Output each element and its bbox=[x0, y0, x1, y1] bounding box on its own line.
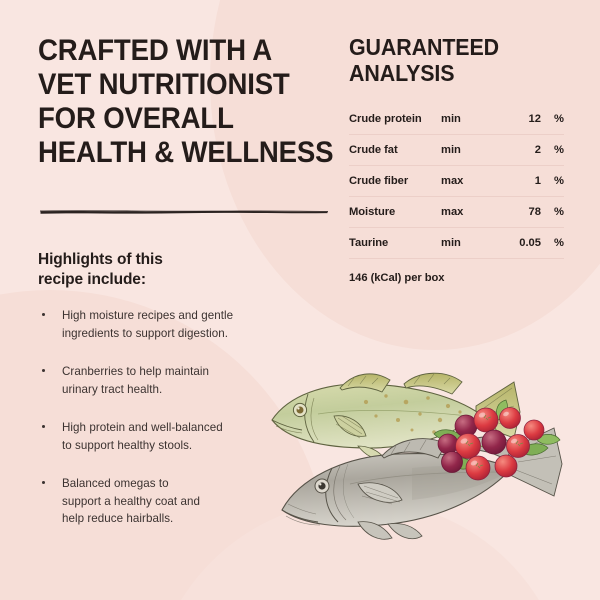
headline-line-4: HEALTH & WELLNESS bbox=[38, 136, 314, 170]
nutrient-qualifier: min bbox=[433, 228, 497, 259]
nutrient-unit: % bbox=[541, 228, 564, 259]
bullet-line: ingredients to support digestion. bbox=[62, 325, 310, 343]
table-row: Crude protein min 12 % bbox=[349, 104, 564, 135]
nutrient-unit: % bbox=[541, 104, 564, 135]
guaranteed-analysis-section: GUARANTEED ANALYSIS Crude protein min 12… bbox=[349, 34, 564, 284]
bullet-line: to support healthy stools. bbox=[62, 437, 310, 455]
bullet-text: Balanced omegas to support a healthy coa… bbox=[62, 475, 310, 528]
table-row: Moisture max 78 % bbox=[349, 197, 564, 228]
ga-title-line-1: GUARANTEED bbox=[349, 34, 549, 60]
nutrient-value: 0.05 bbox=[497, 228, 541, 259]
table-row: Crude fat min 2 % bbox=[349, 135, 564, 166]
nutrient-value: 78 bbox=[497, 197, 541, 228]
bullet-line: urinary tract health. bbox=[62, 381, 310, 399]
headline-line-1: CRAFTED WITH A bbox=[38, 34, 314, 68]
headline-line-2: VET NUTRITIONIST bbox=[38, 68, 314, 102]
bullet-line: High moisture recipes and gentle bbox=[62, 307, 310, 325]
cranberry-cluster bbox=[434, 400, 560, 480]
pet-food-label-panel: CRAFTED WITH A VET NUTRITIONIST FOR OVER… bbox=[0, 0, 600, 600]
guaranteed-analysis-title: GUARANTEED ANALYSIS bbox=[349, 34, 549, 86]
nutrient-value: 12 bbox=[497, 104, 541, 135]
nutrient-name: Crude fiber bbox=[349, 166, 433, 197]
bullet-dot-icon bbox=[42, 313, 45, 316]
nutrient-qualifier: min bbox=[433, 104, 497, 135]
table-row: Taurine min 0.05 % bbox=[349, 228, 564, 259]
highlights-title-line-1: Highlights of this bbox=[38, 250, 163, 270]
bullet-text: High protein and well-balanced to suppor… bbox=[62, 419, 310, 454]
nutrient-unit: % bbox=[541, 197, 564, 228]
ga-title-line-2: ANALYSIS bbox=[349, 60, 549, 86]
bullet-text: High moisture recipes and gentle ingredi… bbox=[62, 307, 310, 342]
guaranteed-analysis-table: Crude protein min 12 % Crude fat min 2 %… bbox=[349, 104, 564, 259]
list-item: High protein and well-balanced to suppor… bbox=[40, 419, 310, 454]
bullet-line: Cranberries to help maintain bbox=[62, 363, 310, 381]
nutrient-unit: % bbox=[541, 166, 564, 197]
bullet-dot-icon bbox=[42, 425, 45, 428]
page-headline: CRAFTED WITH A VET NUTRITIONIST FOR OVER… bbox=[38, 34, 314, 170]
nutrient-qualifier: min bbox=[433, 135, 497, 166]
nutrient-name: Crude fat bbox=[349, 135, 433, 166]
bullet-line: Balanced omegas to bbox=[62, 475, 310, 493]
headline-line-3: FOR OVERALL bbox=[38, 102, 314, 136]
grey-fish bbox=[282, 428, 562, 539]
bullet-dot-icon bbox=[42, 481, 45, 484]
nutrient-name: Moisture bbox=[349, 197, 433, 228]
bullet-text: Cranberries to help maintain urinary tra… bbox=[62, 363, 310, 398]
nutrient-value: 2 bbox=[497, 135, 541, 166]
highlights-title-line-2: recipe include: bbox=[38, 270, 163, 290]
list-item: Cranberries to help maintain urinary tra… bbox=[40, 363, 310, 398]
nutrient-qualifier: max bbox=[433, 166, 497, 197]
list-item: High moisture recipes and gentle ingredi… bbox=[40, 307, 310, 342]
highlights-bullet-list: High moisture recipes and gentle ingredi… bbox=[40, 307, 310, 528]
highlights-title: Highlights of this recipe include: bbox=[38, 250, 163, 290]
table-row: Crude fiber max 1 % bbox=[349, 166, 564, 197]
nutrient-name: Crude protein bbox=[349, 104, 433, 135]
two-fish-and-cranberries-illustration bbox=[262, 372, 592, 572]
bullet-line: help reduce hairballs. bbox=[62, 510, 310, 528]
nutrient-name: Taurine bbox=[349, 228, 433, 259]
calorie-statement: 146 (kCal) per box bbox=[349, 272, 564, 284]
left-column: CRAFTED WITH A VET NUTRITIONIST FOR OVER… bbox=[38, 34, 338, 170]
headline-brush-rule bbox=[40, 210, 328, 215]
nutrient-value: 1 bbox=[497, 166, 541, 197]
bullet-dot-icon bbox=[42, 369, 45, 372]
nutrient-unit: % bbox=[541, 135, 564, 166]
nutrient-qualifier: max bbox=[433, 197, 497, 228]
list-item: Balanced omegas to support a healthy coa… bbox=[40, 475, 310, 528]
bullet-line: High protein and well-balanced bbox=[62, 419, 310, 437]
bullet-line: support a healthy coat and bbox=[62, 493, 310, 511]
